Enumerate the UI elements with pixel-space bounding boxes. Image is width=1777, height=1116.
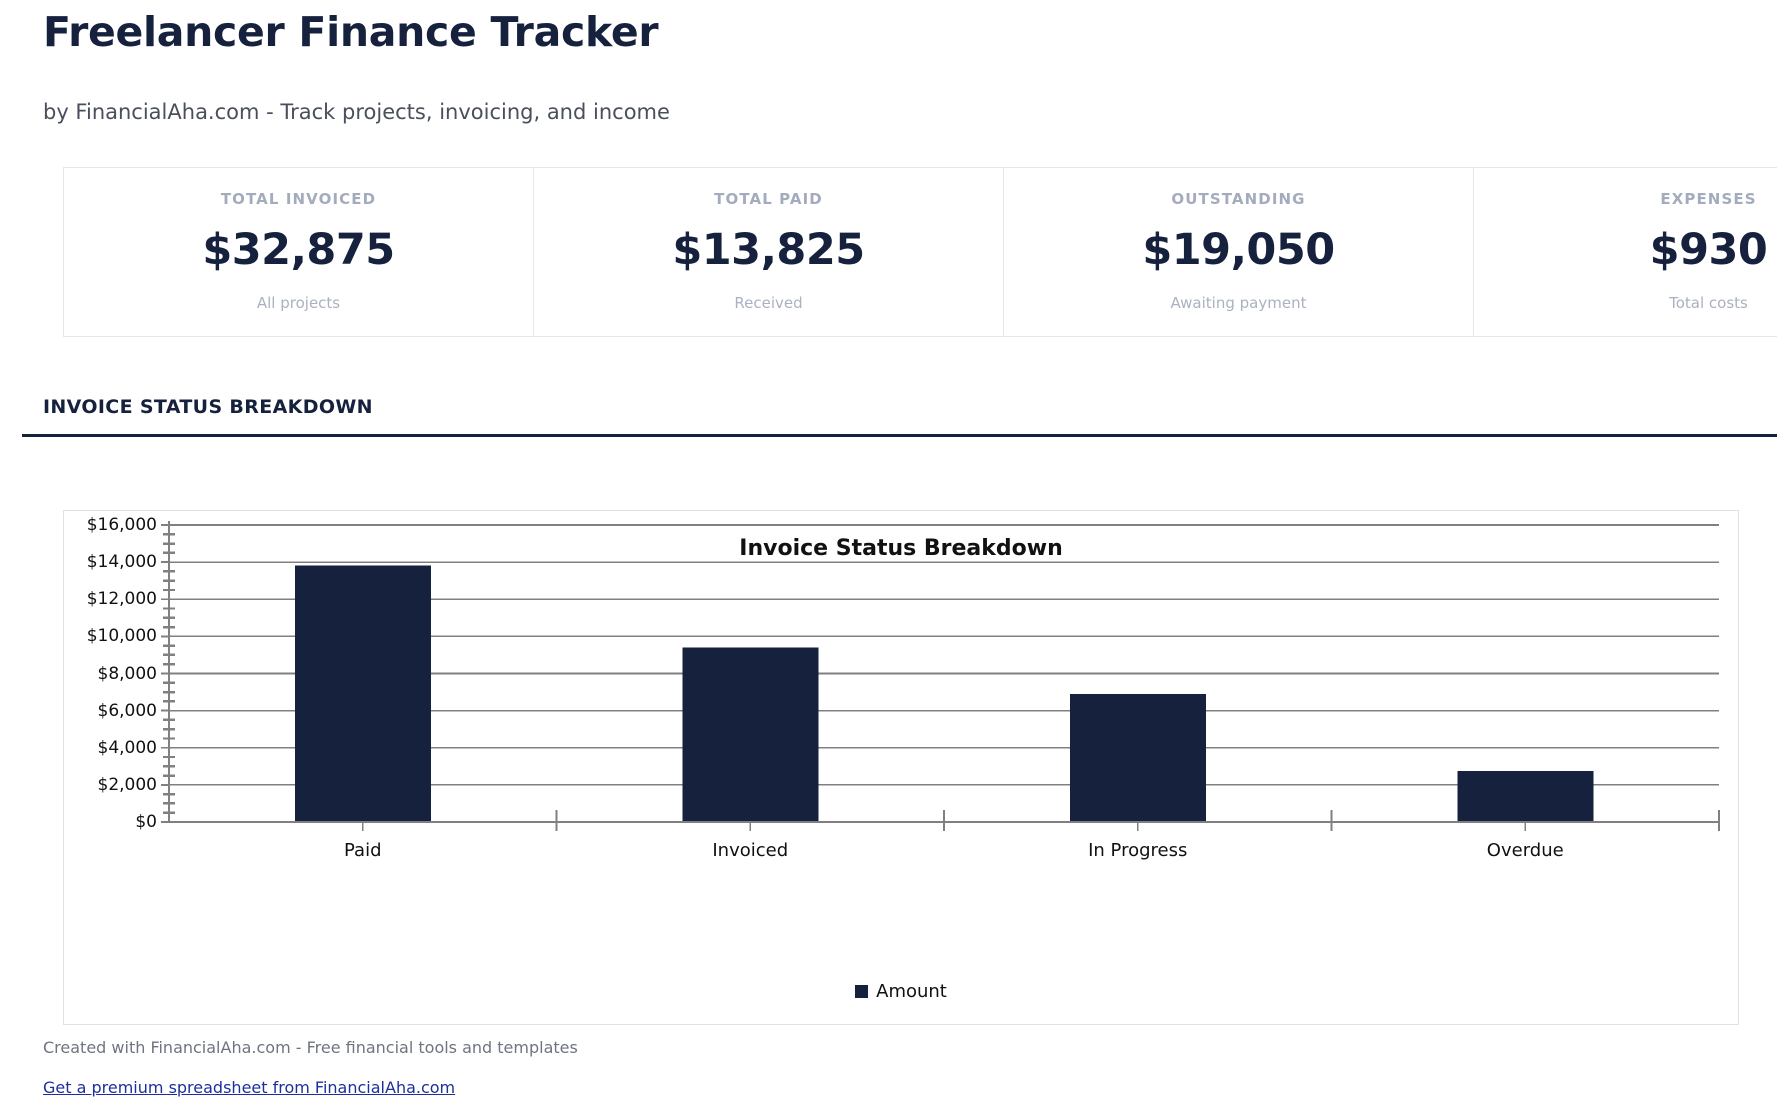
stat-label: OUTSTANDING — [1171, 190, 1305, 208]
premium-spreadsheet-link[interactable]: Get a premium spreadsheet from Financial… — [43, 1078, 455, 1097]
legend-swatch-icon — [855, 985, 868, 998]
y-axis-tick-label: $0 — [64, 812, 157, 832]
footer-note: Created with FinancialAha.com - Free fin… — [43, 1038, 578, 1057]
page-root: Freelancer Finance Tracker by FinancialA… — [0, 0, 1777, 1116]
stat-label: TOTAL PAID — [714, 190, 823, 208]
chart-panel: Invoice Status Breakdown $0$2,000$4,000$… — [63, 510, 1739, 1025]
stat-sublabel: Received — [734, 294, 802, 312]
stat-sublabel: Total costs — [1669, 294, 1748, 312]
section-title: INVOICE STATUS BREAKDOWN — [43, 396, 373, 418]
y-axis-tick-label: $12,000 — [64, 589, 157, 609]
bar-chart — [64, 511, 1740, 1026]
section-divider — [22, 434, 1777, 437]
page-subtitle: by FinancialAha.com - Track projects, in… — [43, 100, 670, 124]
y-axis-tick-label: $4,000 — [64, 738, 157, 758]
stats-row: TOTAL INVOICED $32,875 All projects TOTA… — [63, 167, 1777, 337]
stat-sublabel: All projects — [257, 294, 340, 312]
y-axis-tick-label: $16,000 — [64, 515, 157, 535]
stat-value: $13,825 — [672, 225, 864, 275]
x-axis-tick-label: Overdue — [1487, 840, 1564, 861]
stat-value: $19,050 — [1142, 225, 1334, 275]
y-axis-tick-label: $14,000 — [64, 552, 157, 572]
y-axis-tick-label: $2,000 — [64, 775, 157, 795]
stat-card-expenses: EXPENSES $930 Total costs — [1474, 168, 1777, 336]
stat-value: $32,875 — [202, 225, 394, 275]
x-axis-tick-label: Invoiced — [712, 840, 788, 861]
y-axis-tick-label: $8,000 — [64, 664, 157, 684]
y-axis-tick-label: $10,000 — [64, 626, 157, 646]
page-title: Freelancer Finance Tracker — [43, 8, 658, 57]
stat-card-total-paid: TOTAL PAID $13,825 Received — [534, 168, 1004, 336]
stat-label: EXPENSES — [1660, 190, 1756, 208]
y-axis-tick-label: $6,000 — [64, 701, 157, 721]
x-axis-tick-label: Paid — [344, 840, 382, 861]
stat-card-total-invoiced: TOTAL INVOICED $32,875 All projects — [64, 168, 534, 336]
stat-label: TOTAL INVOICED — [221, 190, 376, 208]
x-axis-tick-label: In Progress — [1088, 840, 1187, 861]
chart-legend: Amount — [64, 981, 1738, 1002]
stat-value: $930 — [1650, 225, 1768, 275]
stat-card-outstanding: OUTSTANDING $19,050 Awaiting payment — [1004, 168, 1474, 336]
legend-label: Amount — [876, 981, 947, 1002]
stat-sublabel: Awaiting payment — [1171, 294, 1307, 312]
